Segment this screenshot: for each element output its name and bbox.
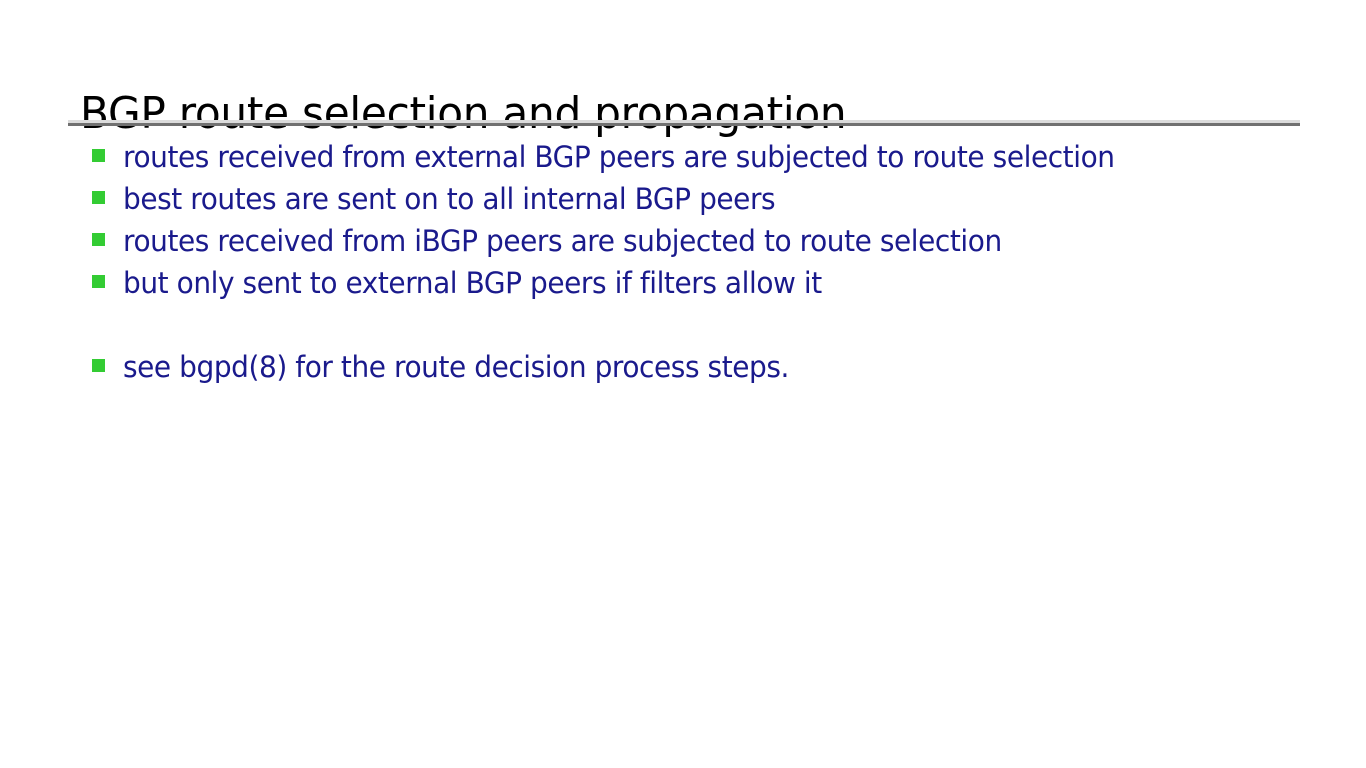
list-item-label: routes received from iBGP peers are subj… bbox=[123, 222, 1299, 260]
list-item: routes received from iBGP peers are subj… bbox=[92, 222, 1342, 264]
presentation-slide: BGP route selection and propagation rout… bbox=[0, 0, 1366, 768]
list-item-label: best routes are sent on to all internal … bbox=[123, 180, 1299, 218]
title-divider bbox=[68, 120, 1300, 126]
bullet-list: routes received from external BGP peers … bbox=[92, 138, 1342, 390]
page-title: BGP route selection and propagation bbox=[80, 87, 1261, 141]
green-square-bullet-icon bbox=[92, 275, 105, 288]
list-item: but only sent to external BGP peers if f… bbox=[92, 264, 1342, 306]
green-square-bullet-icon bbox=[92, 149, 105, 162]
green-square-bullet-icon bbox=[92, 191, 105, 204]
list-item-label: but only sent to external BGP peers if f… bbox=[123, 264, 1299, 302]
list-spacer bbox=[92, 306, 1342, 348]
green-square-bullet-icon bbox=[92, 359, 105, 372]
divider-dark-line bbox=[68, 123, 1300, 126]
list-item-label: routes received from external BGP peers … bbox=[123, 138, 1299, 176]
list-item-label: see bgpd(8) for the route decision proce… bbox=[123, 348, 1299, 386]
list-item: see bgpd(8) for the route decision proce… bbox=[92, 348, 1342, 390]
green-square-bullet-icon bbox=[92, 233, 105, 246]
list-item: best routes are sent on to all internal … bbox=[92, 180, 1342, 222]
list-item: routes received from external BGP peers … bbox=[92, 138, 1342, 180]
